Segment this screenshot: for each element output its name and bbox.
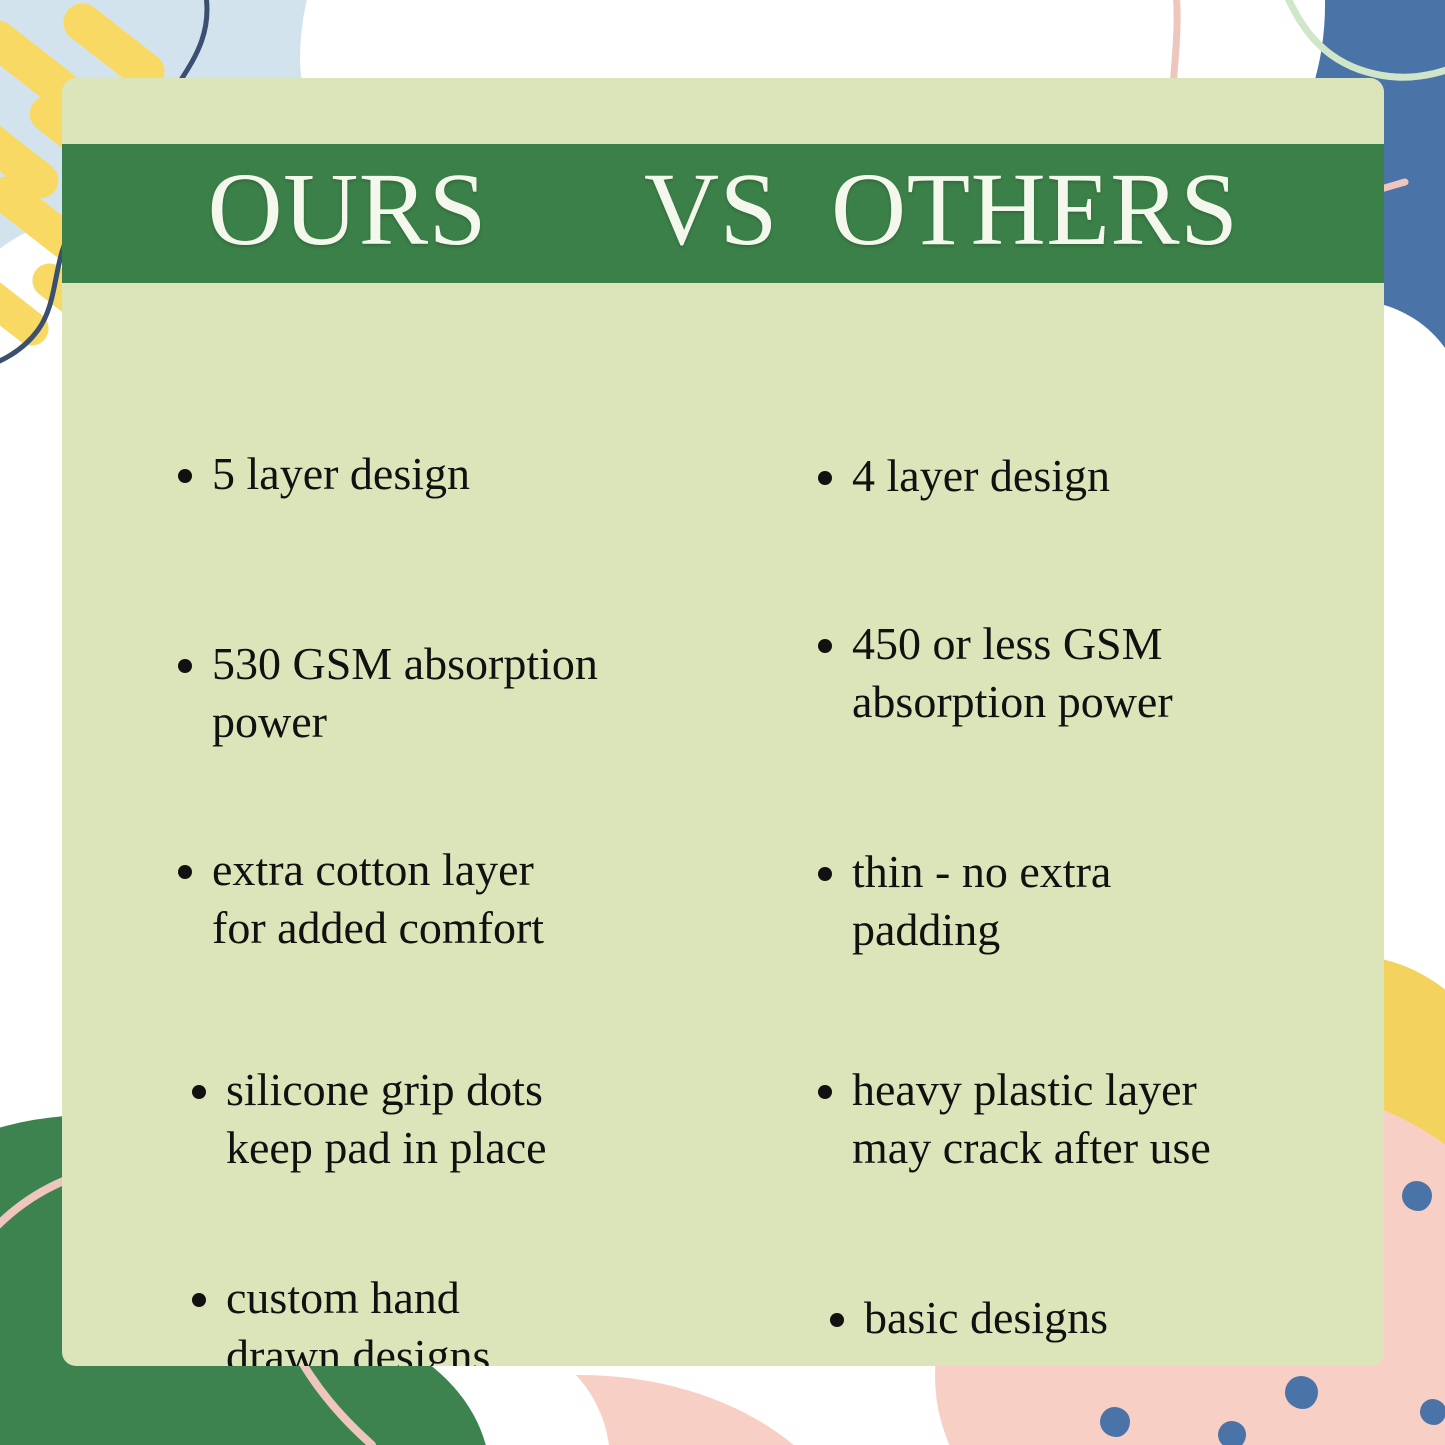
bullet-dot-icon <box>830 1313 844 1327</box>
list-item: 4 layer design <box>818 447 1110 505</box>
list-item-label: 4 layer design <box>852 447 1110 505</box>
list-item-label: 530 GSM absorption power <box>212 635 598 752</box>
list-item-label: basic designs <box>864 1289 1108 1347</box>
list-item: basic designs <box>830 1289 1108 1347</box>
bullet-dot-icon <box>818 471 832 485</box>
list-item: 450 or less GSM absorption power <box>818 615 1173 732</box>
ours-bullet-list: 5 layer design 530 GSM absorption power … <box>120 283 720 1366</box>
bullet-dot-icon <box>192 1293 206 1307</box>
list-item-label: extra cotton layer for added comfort <box>212 841 544 958</box>
list-item-label: 450 or less GSM absorption power <box>852 615 1173 732</box>
bullet-dot-icon <box>192 1085 206 1099</box>
list-item-label: heavy plastic layer may crack after use <box>852 1061 1211 1178</box>
bullet-dot-icon <box>178 469 192 483</box>
polka-dot <box>1100 1407 1130 1437</box>
header-banner: OURS VS OTHERS <box>62 144 1384 283</box>
list-item: extra cotton layer for added comfort <box>178 841 544 958</box>
bullet-dot-icon <box>178 659 192 673</box>
list-item-label: thin - no extra padding <box>852 843 1111 960</box>
polka-dot <box>1285 1376 1318 1409</box>
comparison-card: OURS VS OTHERS 5 layer design 530 GSM ab… <box>62 78 1384 1366</box>
bullet-dot-icon <box>178 865 192 879</box>
ours-column: 5 layer design 530 GSM absorption power … <box>62 283 730 1366</box>
comparison-infographic: OURS VS OTHERS 5 layer design 530 GSM ab… <box>0 0 1445 1445</box>
bullet-dot-icon <box>818 639 832 653</box>
list-item-label: custom hand drawn designs <box>226 1269 490 1366</box>
polka-dot <box>1402 1181 1432 1211</box>
list-item: silicone grip dots keep pad in place <box>192 1061 547 1178</box>
list-item: thin - no extra padding <box>818 843 1111 960</box>
others-bullet-list: 4 layer design 450 or less GSM absorptio… <box>774 283 1374 1366</box>
polka-dot <box>1420 1399 1445 1425</box>
bullet-dot-icon <box>818 1085 832 1099</box>
list-item: heavy plastic layer may crack after use <box>818 1061 1211 1178</box>
polka-dot <box>1218 1421 1246 1445</box>
bullet-dot-icon <box>818 867 832 881</box>
comparison-columns: 5 layer design 530 GSM absorption power … <box>62 283 1384 1366</box>
page-title: OURS VS OTHERS <box>208 158 1239 262</box>
list-item-label: silicone grip dots keep pad in place <box>226 1061 547 1178</box>
list-item: custom hand drawn designs <box>192 1269 490 1366</box>
list-item: 530 GSM absorption power <box>178 635 598 752</box>
list-item-label: 5 layer design <box>212 445 470 503</box>
list-item: 5 layer design <box>178 445 470 503</box>
others-column: 4 layer design 450 or less GSM absorptio… <box>730 283 1384 1366</box>
